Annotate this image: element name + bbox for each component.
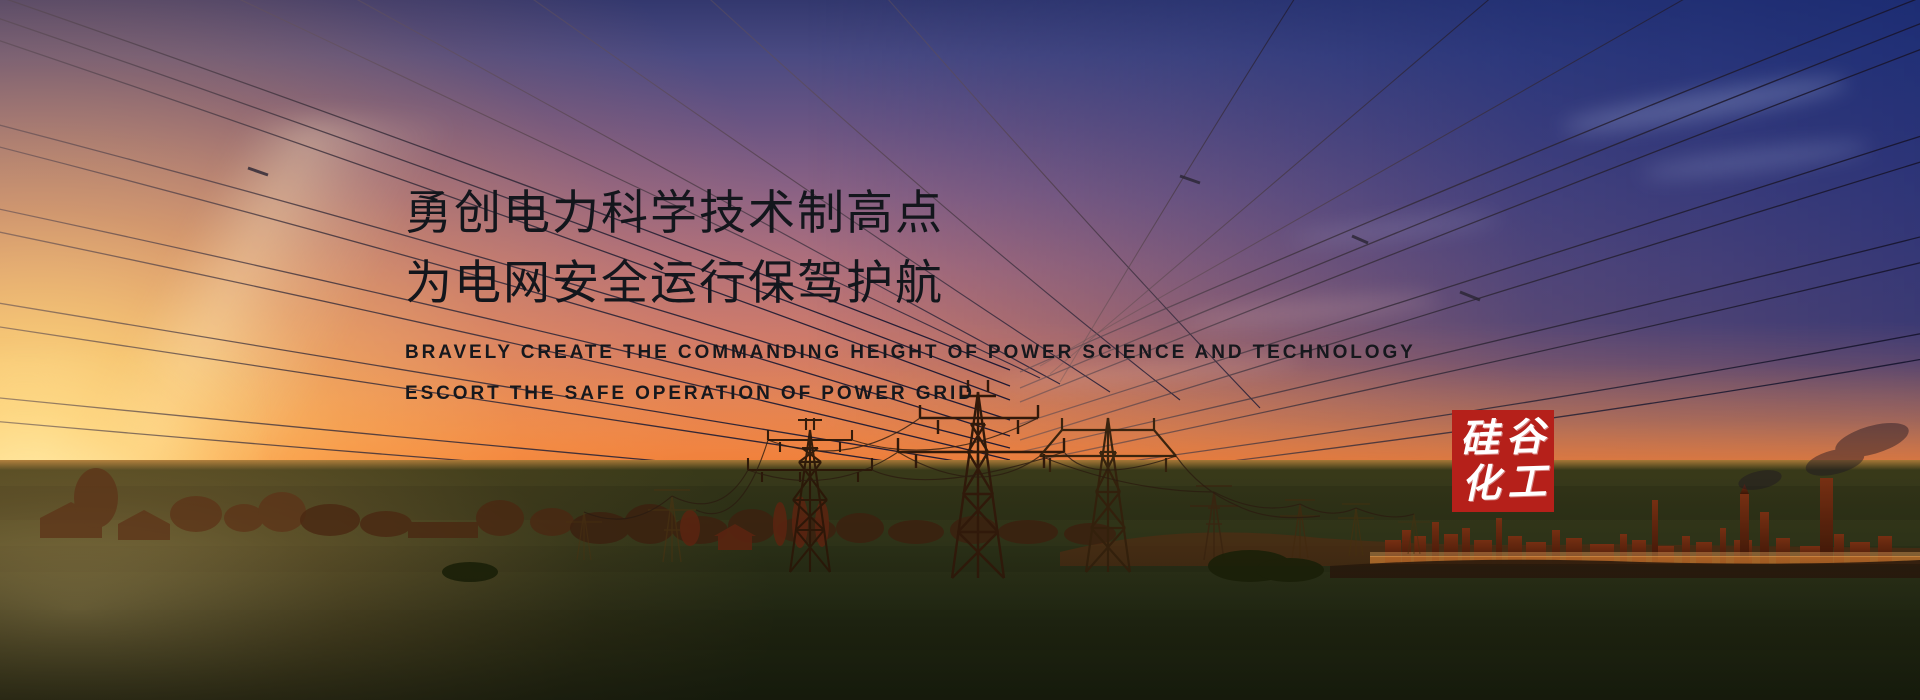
hero-banner: 勇创电力科学技术制高点 为电网安全运行保驾护航 BRAVELY CREATE T…	[0, 0, 1920, 700]
foreground-vignette	[0, 550, 1920, 700]
seal-characters: 硅 谷 化 工	[1456, 414, 1549, 507]
headline-cn-line-1: 勇创电力科学技术制高点	[405, 178, 1416, 248]
seal-char-2: 谷	[1502, 414, 1548, 461]
seal-char-3: 化	[1458, 461, 1504, 508]
subhead-group: BRAVELY CREATE THE COMMANDING HEIGHT OF …	[405, 332, 1416, 414]
banner-copy: 勇创电力科学技术制高点 为电网安全运行保驾护航 BRAVELY CREATE T…	[405, 178, 1416, 414]
headline-cn-line-2: 为电网安全运行保驾护航	[405, 248, 1416, 318]
seal-char-4: 工	[1504, 459, 1550, 506]
company-logo-seal[interactable]: 硅 谷 化 工	[1452, 410, 1554, 512]
headline-en-line-2: ESCORT THE SAFE OPERATION OF POWER GRID	[405, 373, 1416, 414]
headline-en-line-1: BRAVELY CREATE THE COMMANDING HEIGHT OF …	[405, 332, 1416, 373]
seal-char-1: 硅	[1456, 416, 1502, 463]
